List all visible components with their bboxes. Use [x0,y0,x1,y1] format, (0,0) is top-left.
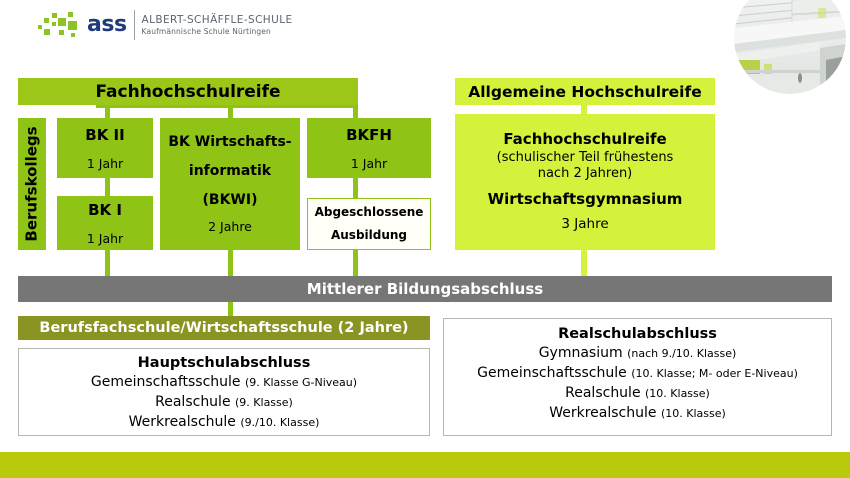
logo-name-line2: Kaufmännische Schule Nürtingen [142,27,293,36]
school-name: Realschule [565,385,640,401]
card-bkwi-line2: informatik [189,157,271,186]
header-allgemeine-hochschulreife-label: Allgemeine Hochschulreife [468,83,702,101]
list-item: Gemeinschaftsschule (10. Klasse; M- oder… [477,364,798,384]
card-bk2-title: BK II [85,126,124,144]
header-fachhochschulreife: Fachhochschulreife [18,78,358,105]
bar-berufsfachschule-label: Berufsfachschule/Wirtschaftsschule (2 Ja… [39,320,408,336]
school-note: (9. Klasse G-Niveau) [245,376,357,389]
card-bk2-years: 1 Jahr [87,156,123,171]
school-note: (10. Klasse; M- oder E-Niveau) [631,367,798,380]
card-hauptschulabschluss: Hauptschulabschluss Gemeinschaftsschule … [18,348,430,436]
card-hauptschulabschluss-heading: Hauptschulabschluss [138,355,311,371]
sidebar-label-text: Berufskollegs [23,126,41,241]
logo-divider [134,10,135,40]
connector-bk1-down [105,250,110,276]
logo-name-line1: ALBERT-SCHÄFFLE-SCHULE [142,14,293,27]
header-allgemeine-hochschulreife: Allgemeine Hochschulreife [455,78,715,105]
school-note: (10. Klasse) [645,387,710,400]
card-realschulabschluss: Realschulabschluss Gymnasium (nach 9./10… [443,318,832,436]
card-bkwi-line3: (BKWI) [203,186,258,215]
card-bkwi[interactable]: BK Wirtschafts- informatik (BKWI) 2 Jahr… [160,118,300,250]
card-bk2[interactable]: BK II 1 Jahr [57,118,153,178]
school-note: (9. Klasse) [235,396,293,409]
list-item: Realschule (9. Klasse) [155,393,293,413]
card-abgeschlossene-ausbildung[interactable]: Abgeschlossene Ausbildung [307,198,431,250]
connector-bk2-up [105,103,110,118]
connector-mid-to-bfs [228,300,233,316]
connector-bkwi-up [228,103,233,118]
card-wg-title: Fachhochschulreife [503,130,666,150]
card-wg-years: 3 Jahre [561,216,608,234]
logo-school-name: ALBERT-SCHÄFFLE-SCHULE Kaufmännische Sch… [142,14,293,36]
card-bkwi-years: 2 Jahre [208,214,252,240]
list-item: Gemeinschaftsschule (9. Klasse G-Niveau) [91,373,357,393]
card-bkwi-line1: BK Wirtschafts- [168,128,291,157]
card-realschulabschluss-heading: Realschulabschluss [558,326,717,342]
card-wg-note-line1: (schulischer Teil frühestens [497,150,674,167]
connector-bkfh-to-ausbildung [353,178,358,200]
school-name: Realschule [155,394,230,410]
card-ausbildung-line1: Abgeschlossene [315,201,424,224]
green-squares-logo-icon [38,12,84,38]
connector-bkfh-up [353,103,358,118]
school-name: Werkrealschule [549,405,656,421]
connector-ausbildung-down [353,250,358,276]
card-ausbildung-line2: Ausbildung [331,224,407,247]
bar-mittlerer-label: Mittlerer Bildungsabschluss [307,280,543,298]
school-note: (10. Klasse) [661,407,726,420]
card-wg-note-line2: nach 2 Jahren) [538,166,633,183]
school-name: Gemeinschaftsschule [477,365,627,381]
school-note: (nach 9./10. Klasse) [627,347,736,360]
bar-mittlerer-bildungsabschluss: Mittlerer Bildungsabschluss [18,276,832,302]
list-item: Realschule (10. Klasse) [565,384,710,404]
logo-wordmark: ass [87,14,134,36]
school-name: Gemeinschaftsschule [91,374,241,390]
card-bk1-title: BK I [88,201,122,219]
list-item: Werkrealschule (9./10. Klasse) [129,413,320,433]
card-wg-subtitle: Wirtschaftsgymnasium [488,190,683,210]
connector-right-panel-down [581,250,587,276]
card-bk1[interactable]: BK I 1 Jahr [57,196,153,250]
school-atrium-photo [734,0,846,94]
card-bkfh-title: BKFH [346,126,392,144]
connector-bkwi-down [228,250,233,276]
footer-bar [0,452,850,478]
school-logo: ass ALBERT-SCHÄFFLE-SCHULE Kaufmännische… [38,8,292,42]
school-name: Gymnasium [539,345,623,361]
diagram-canvas: ass ALBERT-SCHÄFFLE-SCHULE Kaufmännische… [0,0,850,478]
card-bk1-years: 1 Jahr [87,231,123,246]
list-item: Werkrealschule (10. Klasse) [549,404,726,424]
school-note: (9./10. Klasse) [240,416,319,429]
bar-berufsfachschule: Berufsfachschule/Wirtschaftsschule (2 Ja… [18,316,430,340]
card-wirtschaftsgymnasium[interactable]: Fachhochschulreife (schulischer Teil frü… [455,114,715,250]
card-bkfh-years: 1 Jahr [351,156,387,171]
list-item: Gymnasium (nach 9./10. Klasse) [539,344,737,364]
sidebar-label-berufskollegs: Berufskollegs [18,118,46,250]
card-bkfh[interactable]: BKFH 1 Jahr [307,118,431,178]
header-fachhochschulreife-label: Fachhochschulreife [95,82,280,102]
school-name: Werkrealschule [129,414,236,430]
